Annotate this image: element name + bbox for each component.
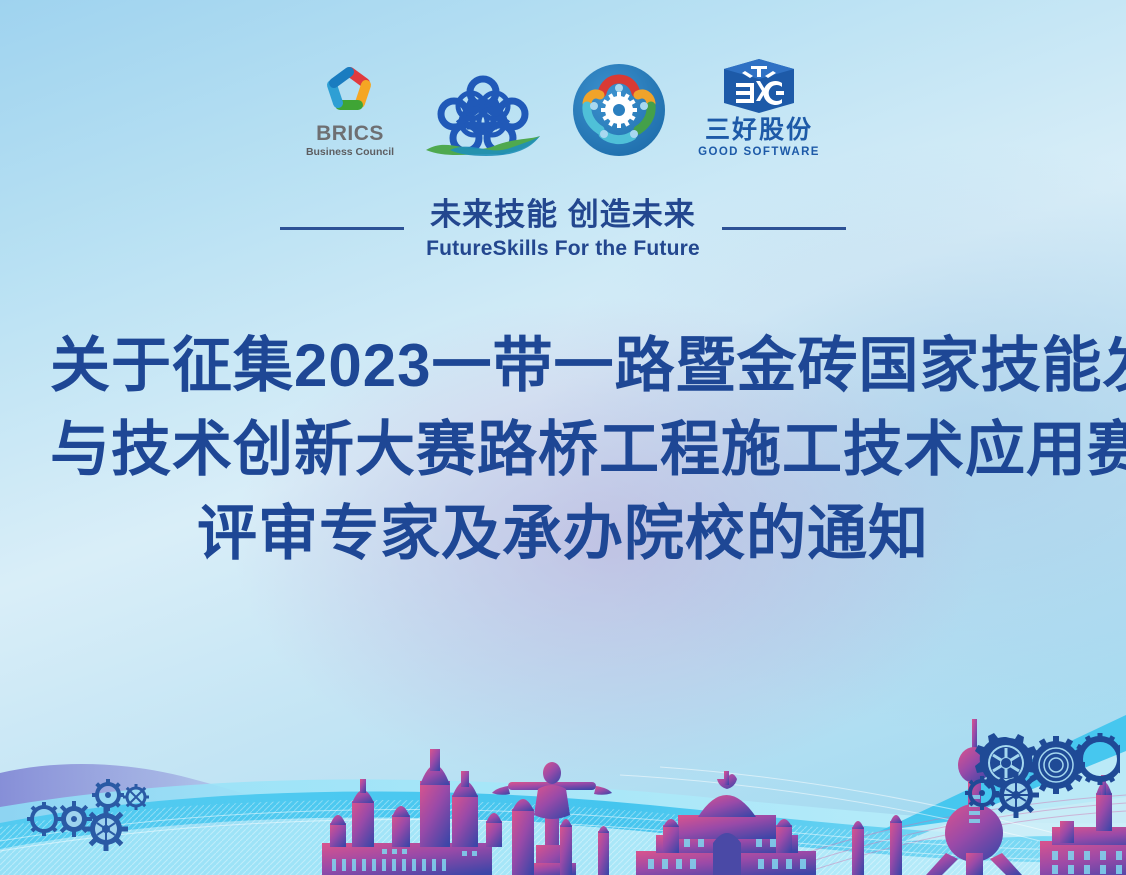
- title-line-1: 关于征集2023一带一路暨金砖国家技能发展: [50, 324, 1076, 408]
- brics-landmarks-skyline: [0, 675, 1126, 875]
- gear-cluster-left: [22, 771, 162, 851]
- title-line-2: 与技术创新大赛路桥工程施工技术应用赛项: [50, 408, 1076, 492]
- logo-row: BRICS Business Council: [0, 46, 1126, 158]
- cube-monogram-icon: [696, 56, 822, 116]
- gear-cluster-right: [960, 723, 1120, 823]
- slogan-chinese: 未来技能 创造未来: [426, 196, 700, 235]
- slogan-english: FutureSkills For the Future: [426, 237, 700, 261]
- slogan-block: 未来技能 创造未来 FutureSkills For the Future: [0, 196, 1126, 261]
- decorative-rule-left: [280, 227, 404, 230]
- five-point-star-icon: [304, 61, 396, 123]
- page-title: 关于征集2023一带一路暨金砖国家技能发展 与技术创新大赛路桥工程施工技术应用赛…: [50, 324, 1076, 576]
- star-gear-circle-logo[interactable]: [570, 62, 668, 158]
- title-line-3: 评审专家及承办院校的通知: [50, 492, 1076, 576]
- good-software-cn: 三好股份: [696, 116, 822, 145]
- decorative-rule-right: [722, 227, 846, 230]
- brics-subtitle: Business Council: [304, 146, 396, 158]
- brics-logo[interactable]: BRICS Business Council: [304, 61, 396, 158]
- good-software-en: GOOD SOFTWARE: [696, 146, 822, 158]
- poster-canvas: BRICS Business Council: [0, 0, 1126, 875]
- brics-wordmark: BRICS: [304, 123, 396, 145]
- interlocking-rings-logo[interactable]: [424, 62, 542, 158]
- good-software-logo[interactable]: 三好股份 GOOD SOFTWARE: [696, 56, 822, 158]
- interlocking-rings-icon: [424, 62, 542, 158]
- star-gear-circle-icon: [570, 62, 668, 158]
